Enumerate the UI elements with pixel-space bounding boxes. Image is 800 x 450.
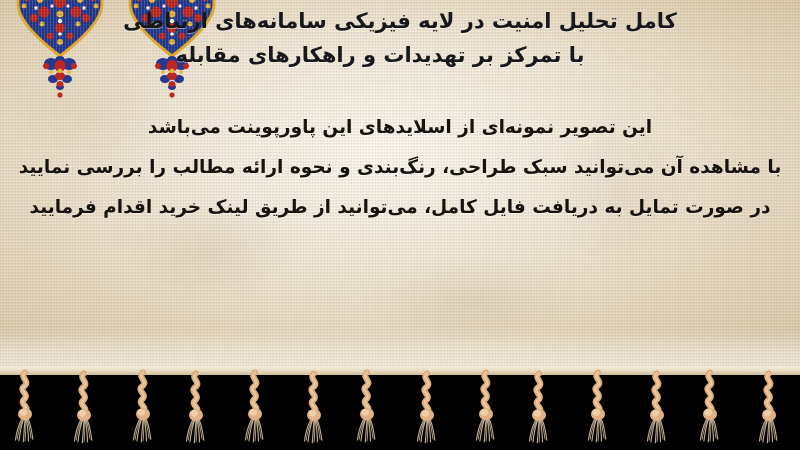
slide-title-line-2: با تمرکز بر تهدیدات و راهکارهای مقابله [0,38,800,72]
fringe-tassel [130,368,156,448]
slide-body: این تصویر نمونه‌ای از اسلایدهای این پاور… [0,108,800,228]
fringe-tassel [644,369,670,449]
slide-body-line-1: این تصویر نمونه‌ای از اسلایدهای این پاور… [0,108,800,148]
fringe-tassel [354,368,380,448]
canvas-edge-lip [0,366,800,375]
fringe-tassel [697,368,723,448]
slide-body-line-2: با مشاهده آن می‌توانید سبک طراحی، رنگ‌بن… [0,148,800,188]
fringe-tassel [756,369,782,449]
presentation-slide: کامل تحلیل امنیت در لایه فیزیکی سامانه‌ه… [0,0,800,450]
fringe-tassel [585,368,611,448]
fringe-tassel [301,369,327,449]
fringe-tassel [414,369,440,449]
fringe-tassel [71,369,97,449]
fringe-tassel [526,369,552,449]
fringe-tassel [473,368,499,448]
slide-title-line-1: کامل تحلیل امنیت در لایه فیزیکی سامانه‌ه… [0,4,800,38]
fringe-tassel [12,368,38,448]
fringe-tassel [242,368,268,448]
fringe-tassel [183,369,209,449]
fringe-black-backdrop [0,366,800,450]
slide-title: کامل تحلیل امنیت در لایه فیزیکی سامانه‌ه… [0,4,800,72]
carpet-fringe-tassels [0,366,800,450]
slide-body-line-3: در صورت تمایل به دریافت فایل کامل، می‌تو… [0,188,800,228]
